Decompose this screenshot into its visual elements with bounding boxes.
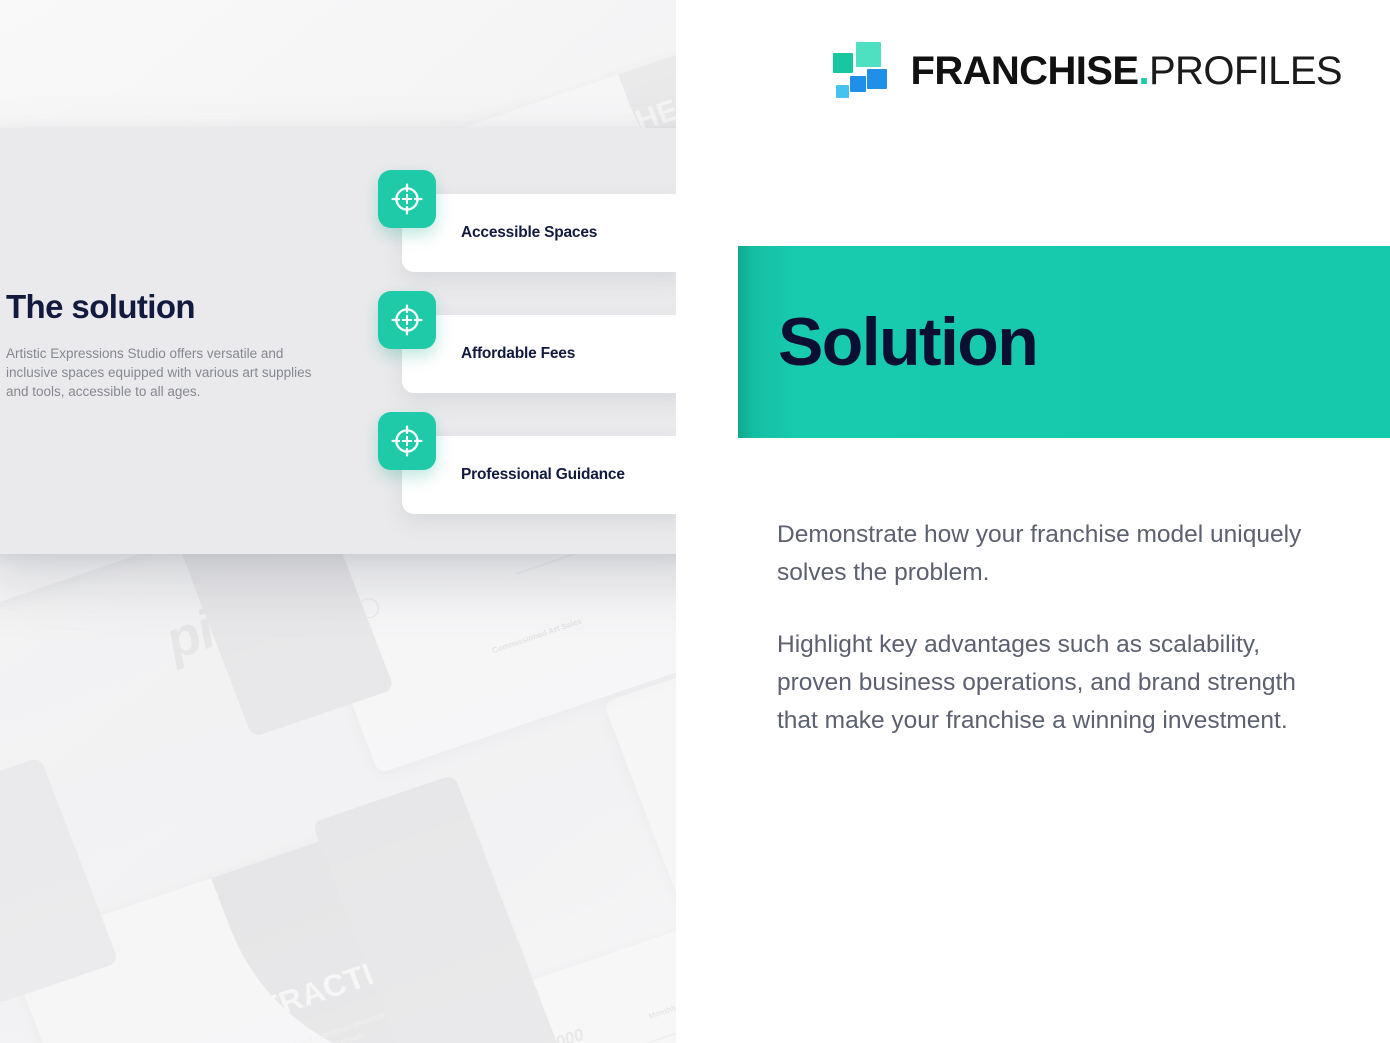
- crosshair-icon: [378, 412, 436, 470]
- logo-text-profiles: PROFILES: [1149, 49, 1342, 94]
- description-paragraph-2: Highlight key advantages such as scalabi…: [777, 626, 1317, 740]
- slide-preview-title: The solution: [6, 288, 195, 326]
- feature-card[interactable]: Affordable Fees: [402, 315, 687, 393]
- right-panel: FRANCHISE.PROFILES Solution Demonstrate …: [676, 0, 1390, 1043]
- section-banner: Solution: [738, 246, 1390, 438]
- feature-label: Accessible Spaces: [461, 224, 597, 242]
- crosshair-icon: [378, 170, 436, 228]
- feature-label: Professional Guidance: [461, 466, 625, 484]
- feature-label: Affordable Fees: [461, 345, 575, 363]
- mini-label: Commissioned Art Sales: [491, 617, 583, 656]
- feature-item[interactable]: Accessible Spaces: [378, 170, 698, 291]
- accent-bar: [0, 757, 119, 1004]
- feature-list: Accessible Spaces Affordable Fees: [378, 170, 698, 533]
- page-title: Solution: [778, 308, 1037, 376]
- crosshair-icon: [378, 291, 436, 349]
- slide-page: pitch deck THE PROBLEM Many individuals …: [0, 0, 1390, 1043]
- mini-stat-label: Monthly Visitors: [647, 993, 676, 1021]
- slide-preview-card[interactable]: The solution Artistic Expressions Studio…: [0, 128, 738, 554]
- feature-item[interactable]: Affordable Fees: [378, 291, 698, 412]
- logo-text-franchise: FRANCHISE: [910, 49, 1138, 94]
- feature-card[interactable]: Professional Guidance: [402, 436, 687, 514]
- slide-preview-content: The solution Artistic Expressions Studio…: [0, 128, 738, 554]
- logo-wordmark: FRANCHISE.PROFILES: [910, 49, 1342, 94]
- description-paragraph-1: Demonstrate how your franchise model uni…: [777, 516, 1317, 592]
- logo-text-dot: .: [1138, 49, 1149, 94]
- feature-card[interactable]: Accessible Spaces: [402, 194, 687, 272]
- description-copy: Demonstrate how your franchise model uni…: [777, 516, 1317, 740]
- logo-mark-icon: [833, 42, 891, 100]
- slide-preview-body: Artistic Expressions Studio offers versa…: [6, 344, 326, 401]
- square-blue-small: [850, 76, 866, 92]
- square-cyan-small: [836, 85, 849, 98]
- square-mint: [856, 42, 881, 67]
- brand-logo[interactable]: FRANCHISE.PROFILES: [833, 42, 1342, 100]
- square-teal: [833, 53, 853, 73]
- feature-item[interactable]: Professional Guidance: [378, 412, 698, 533]
- square-blue: [867, 69, 887, 89]
